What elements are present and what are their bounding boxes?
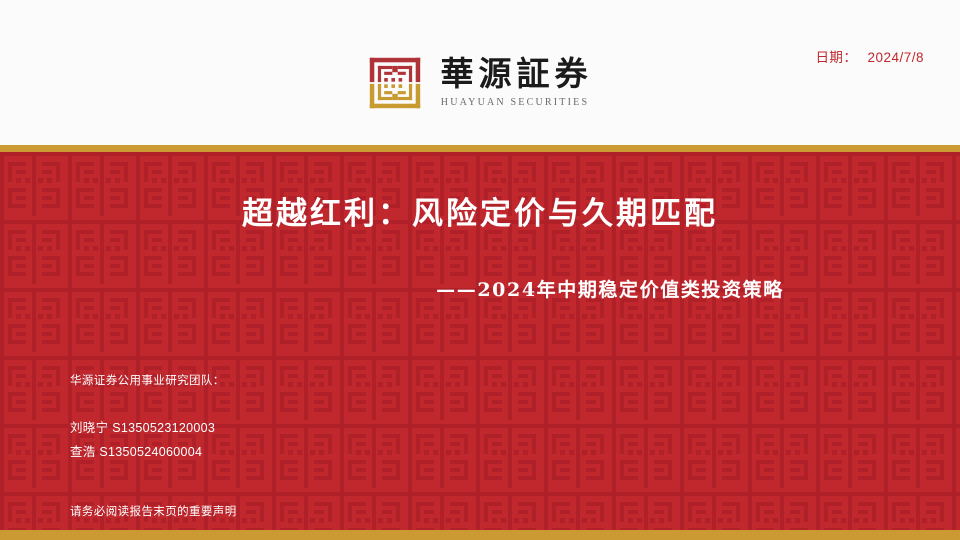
analyst-name: 刘晓宁	[70, 421, 108, 435]
disclaimer-note: 请务必阅读报告末页的重要声明	[70, 503, 237, 519]
research-team-block: 华源证券公用事业研究团队： 刘晓宁 S1350523120003 查浩 S135…	[70, 372, 490, 388]
gold-divider-top	[0, 145, 960, 152]
analyst-row: 查浩 S1350524060004	[70, 441, 202, 460]
company-name-en: HUAYUAN SECURITIES	[439, 97, 589, 108]
page-subtitle: ——2024年中期稳定价值类投资策略	[0, 275, 960, 302]
huayuan-seal-emblem-icon	[368, 56, 422, 110]
analyst-license: S1350524060004	[99, 445, 202, 459]
analyst-name: 查浩	[70, 445, 96, 459]
page-title: 超越红利：风险定价与久期匹配	[0, 188, 960, 233]
analyst-row: 刘晓宁 S1350523120003	[70, 417, 215, 436]
gold-divider-bottom	[0, 530, 960, 540]
company-name-cn: 華源証券	[436, 57, 593, 92]
analyst-license: S1350523120003	[112, 421, 215, 435]
company-logo: 華源証券 HUAYUAN SECURITIES	[0, 56, 960, 110]
research-team-label: 华源证券公用事业研究团队：	[70, 372, 490, 388]
slide-header: 日期：2024/7/8	[0, 0, 960, 145]
presentation-cover-slide: 日期：2024/7/8	[0, 0, 960, 540]
